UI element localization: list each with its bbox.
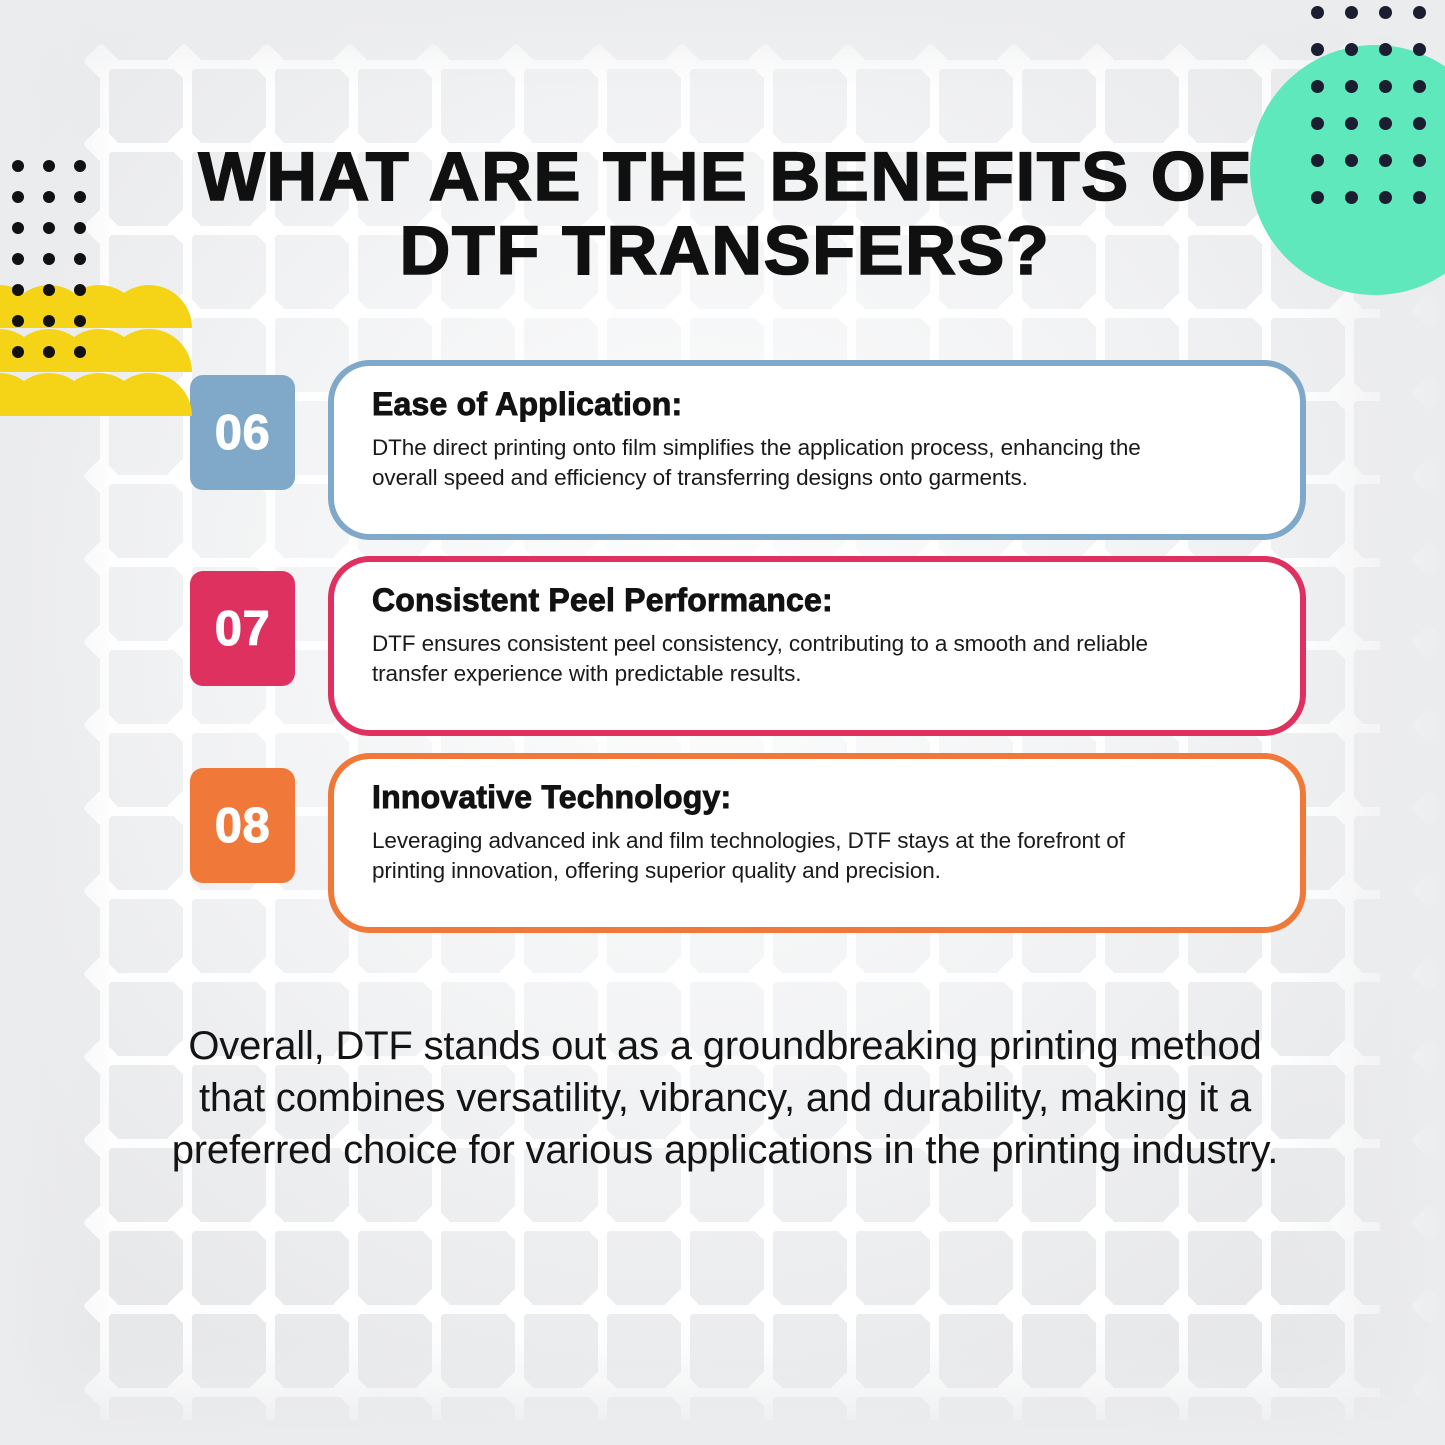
benefit-row-06: 06 Ease of Application: DThe direct prin… bbox=[190, 353, 1260, 513]
infographic-poster: WHAT ARE THE BENEFITS OF DTF TRANSFERS? … bbox=[0, 0, 1445, 1445]
benefit-card-06[interactable]: Ease of Application: DThe direct printin… bbox=[328, 360, 1306, 540]
summary-paragraph: Overall, DTF stands out as a groundbreak… bbox=[170, 1020, 1280, 1176]
benefit-card-08[interactable]: Innovative Technology: Leveraging advanc… bbox=[328, 753, 1306, 933]
card-heading-08: Innovative Technology: bbox=[372, 779, 1272, 816]
benefit-card-07[interactable]: Consistent Peel Performance: DTF ensures… bbox=[328, 556, 1306, 736]
badge-number-06: 06 bbox=[190, 375, 295, 490]
page-title: WHAT ARE THE BENEFITS OF DTF TRANSFERS? bbox=[139, 140, 1312, 288]
card-heading-06: Ease of Application: bbox=[372, 386, 1272, 423]
benefit-row-08: 08 Innovative Technology: Leveraging adv… bbox=[190, 746, 1260, 906]
badge-number-08: 08 bbox=[190, 768, 295, 883]
card-body-07: DTF ensures consistent peel consistency,… bbox=[372, 629, 1192, 689]
dot-grid-left bbox=[0, 160, 110, 380]
badge-number-07: 07 bbox=[190, 571, 295, 686]
benefit-row-07: 07 Consistent Peel Performance: DTF ensu… bbox=[190, 549, 1260, 709]
card-heading-07: Consistent Peel Performance: bbox=[372, 582, 1272, 619]
card-body-08: Leveraging advanced ink and film technol… bbox=[372, 826, 1192, 886]
card-body-06: DThe direct printing onto film simplifie… bbox=[372, 433, 1192, 493]
